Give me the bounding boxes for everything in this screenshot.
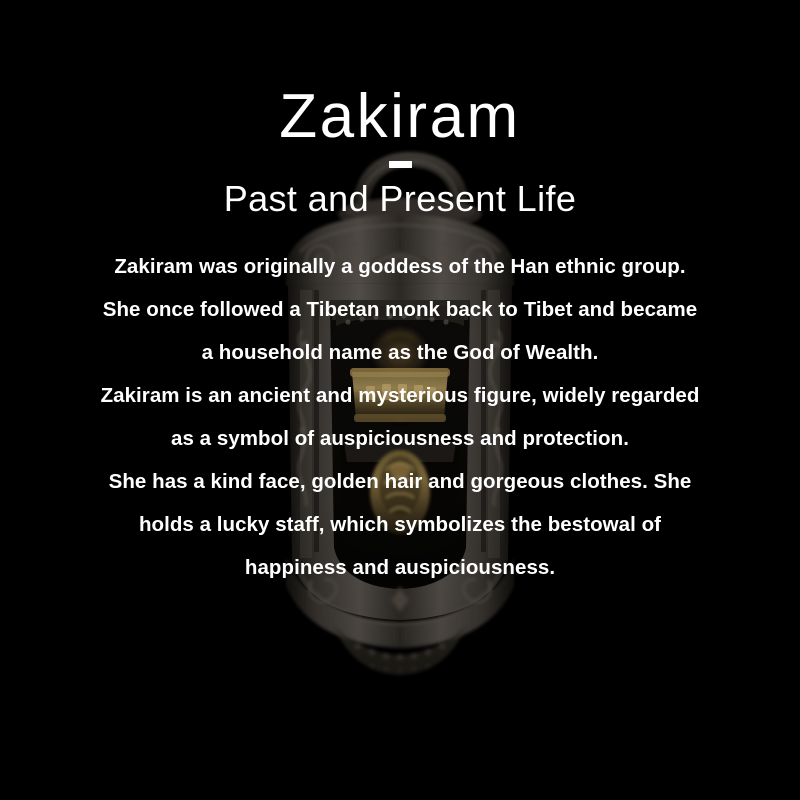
description-line: Zakiram is an ancient and mysterious fig… <box>40 374 760 417</box>
page-title: Zakiram <box>279 84 520 149</box>
description-line: She has a kind face, golden hair and gor… <box>40 460 760 503</box>
product-story-banner: Zakiram Past and Present Life Zakiram wa… <box>0 0 800 800</box>
description-line: holds a lucky staff, which symbolizes th… <box>40 503 760 546</box>
content-stack: Zakiram Past and Present Life Zakiram wa… <box>0 0 800 800</box>
description-line: Zakiram was originally a goddess of the … <box>40 245 760 288</box>
description-block: Zakiram was originally a goddess of the … <box>40 245 760 589</box>
description-line: happiness and auspiciousness. <box>40 546 760 589</box>
description-line: She once followed a Tibetan monk back to… <box>40 288 760 331</box>
description-line: as a symbol of auspiciousness and protec… <box>40 417 760 460</box>
description-line: a household name as the God of Wealth. <box>40 331 760 374</box>
title-divider <box>389 161 412 168</box>
page-subtitle: Past and Present Life <box>224 178 577 219</box>
